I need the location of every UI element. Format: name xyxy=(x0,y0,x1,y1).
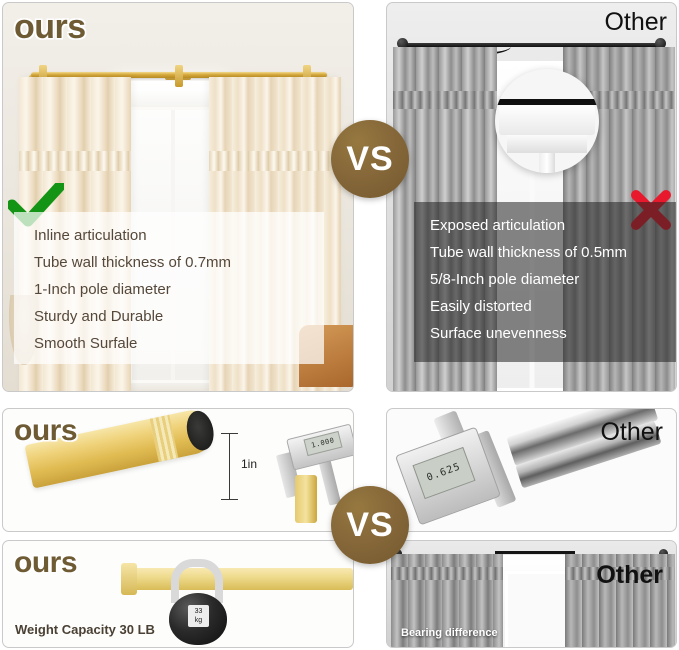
feature-item: Surface unevenness xyxy=(430,320,676,347)
panel-other-bearing-difference: Bearing difference xyxy=(386,540,677,648)
feature-item: Inline articulation xyxy=(34,222,324,249)
curtain-pleat-header xyxy=(391,567,503,580)
feature-item: Easily distorted xyxy=(430,293,676,320)
window-frame xyxy=(505,571,569,648)
kettlebell-weight-value: 33 xyxy=(188,607,209,616)
weight-capacity-caption: Weight Capacity 30 LB xyxy=(15,622,155,637)
curtain-pleat-header xyxy=(19,151,131,171)
rod-end-cap xyxy=(121,563,137,595)
dimension-line xyxy=(229,433,230,499)
vs-badge-label: VS xyxy=(346,506,393,545)
feature-item: Tube wall thickness of 0.7mm xyxy=(34,249,324,276)
feature-item: 1-Inch pole diameter xyxy=(34,276,324,303)
dimension-tick-bottom xyxy=(221,499,238,500)
joint-stem xyxy=(539,153,555,173)
vs-badge-bottom: VS xyxy=(331,486,409,564)
ours-logo-bottom-left-upper: ours xyxy=(14,414,77,448)
vs-badge-label: VS xyxy=(346,140,393,179)
curtain-pleat-header xyxy=(393,91,497,109)
magnified-joint-inset xyxy=(495,69,599,173)
gold-rod-measured xyxy=(295,475,317,523)
other-logo-top-right: Other xyxy=(604,8,667,37)
black-curtain-rod xyxy=(495,551,575,554)
bearing-difference-caption: Bearing difference xyxy=(401,627,498,639)
feature-item: Smooth Surfale xyxy=(34,330,324,357)
tube-open-end xyxy=(183,408,217,453)
dimension-label: 1in xyxy=(241,457,257,471)
feature-item: 5/8-Inch pole diameter xyxy=(430,266,676,293)
comparison-infographic: ours Inline articulation Tube wall thick… xyxy=(0,0,679,650)
joint-collar xyxy=(499,105,595,135)
rod-bracket xyxy=(175,65,183,87)
vs-badge-top: VS xyxy=(331,120,409,198)
feature-item: Exposed articulation xyxy=(430,212,676,239)
kettlebell-weight-unit: kg xyxy=(188,616,209,625)
curtain-pleat-header xyxy=(209,151,341,171)
other-logo-bottom-right-upper: Other xyxy=(600,418,663,447)
feature-item: Sturdy and Durable xyxy=(34,303,324,330)
kettlebell-weight-plate: 33 kg xyxy=(188,605,209,627)
gold-rod-horizontal xyxy=(121,568,353,590)
ours-logo-top-left: ours xyxy=(14,8,86,47)
joint-base xyxy=(507,135,587,153)
tube-knurl-ring xyxy=(150,415,179,462)
ours-feature-list: Inline articulation Tube wall thickness … xyxy=(14,212,324,364)
ours-logo-bottom-left-lower: ours xyxy=(14,546,77,580)
feature-item: Tube wall thickness of 0.5mm xyxy=(430,239,676,266)
other-feature-list: Exposed articulation Tube wall thickness… xyxy=(414,202,676,362)
other-logo-bottom-right-lower: Other xyxy=(596,561,663,590)
